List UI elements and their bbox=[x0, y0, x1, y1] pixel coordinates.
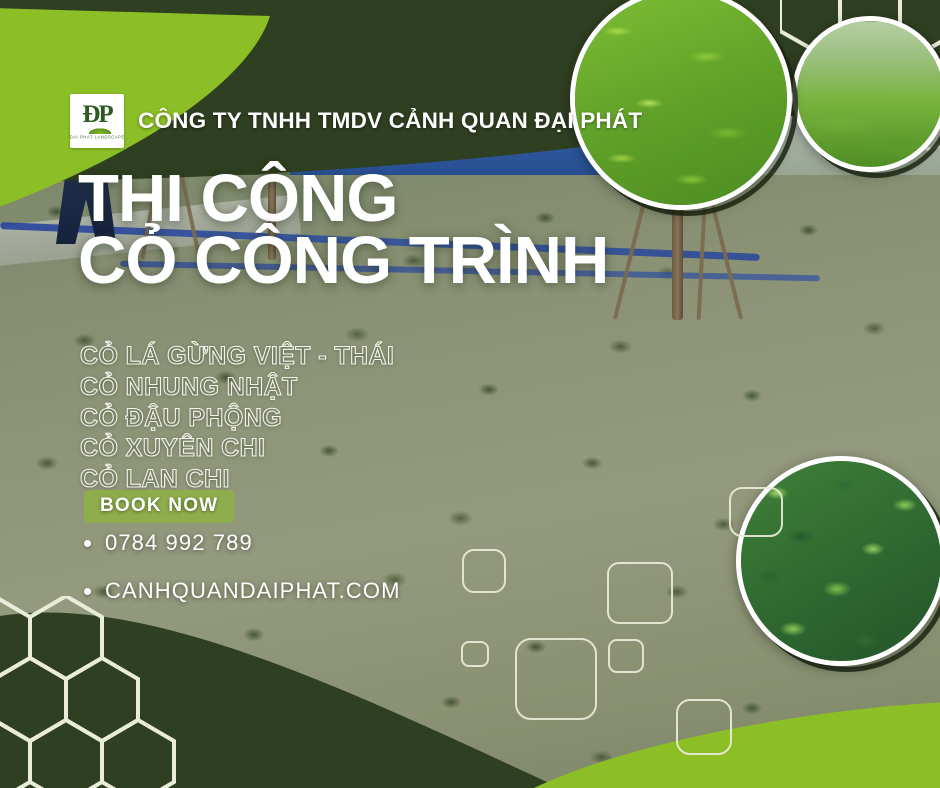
promotional-poster: ĐP DAI PHAT LANDSCAPE CÔNG TY TNHH TMDV … bbox=[0, 0, 940, 788]
brand-bar: ĐP DAI PHAT LANDSCAPE CÔNG TY TNHH TMDV … bbox=[70, 94, 642, 148]
page-title-line-2: CỎ CÔNG TRÌNH bbox=[78, 230, 608, 292]
bullet-icon bbox=[84, 588, 91, 595]
phone-number[interactable]: 0784 992 789 bbox=[105, 530, 253, 556]
company-logo: ĐP DAI PHAT LANDSCAPE bbox=[70, 94, 124, 148]
book-now-button[interactable]: BOOK NOW bbox=[84, 490, 234, 523]
list-item: CỎ LÁ GỪNG VIỆT - THÁI bbox=[80, 341, 394, 372]
list-item: CỎ XUYÊN CHI bbox=[80, 433, 394, 464]
decor-rounded-square-3 bbox=[461, 641, 489, 667]
list-item: CỎ ĐẬU PHỘNG bbox=[80, 403, 394, 434]
website-url[interactable]: CANHQUANDAIPHAT.COM bbox=[105, 578, 401, 604]
logo-caption: DAI PHAT LANDSCAPE bbox=[69, 135, 124, 140]
bullet-icon bbox=[84, 540, 91, 547]
service-list: CỎ LÁ GỪNG VIỆT - THÁI CỎ NHUNG NHẬT CỎ … bbox=[80, 341, 394, 495]
circle-inset-lawn-far bbox=[792, 16, 940, 172]
logo-monogram: ĐP bbox=[82, 102, 111, 127]
contact-block: 0784 992 789 CANHQUANDAIPHAT.COM bbox=[84, 530, 401, 626]
decor-rounded-square-4 bbox=[515, 638, 597, 720]
decor-rounded-square-7 bbox=[729, 487, 783, 537]
decor-rounded-square-6 bbox=[676, 699, 732, 755]
circle-inset-lawn-far-image bbox=[797, 21, 940, 167]
list-item: CỎ NHUNG NHẬT bbox=[80, 372, 394, 403]
page-title: THI CÔNG CỎ CÔNG TRÌNH bbox=[78, 168, 608, 293]
decor-rounded-square-1 bbox=[462, 549, 506, 593]
decor-rounded-square-2 bbox=[607, 562, 673, 624]
contact-phone-row[interactable]: 0784 992 789 bbox=[84, 530, 401, 556]
company-name: CÔNG TY TNHH TMDV CẢNH QUAN ĐẠI PHÁT bbox=[138, 108, 642, 134]
contact-website-row[interactable]: CANHQUANDAIPHAT.COM bbox=[84, 578, 401, 604]
decor-rounded-square-5 bbox=[608, 639, 644, 673]
